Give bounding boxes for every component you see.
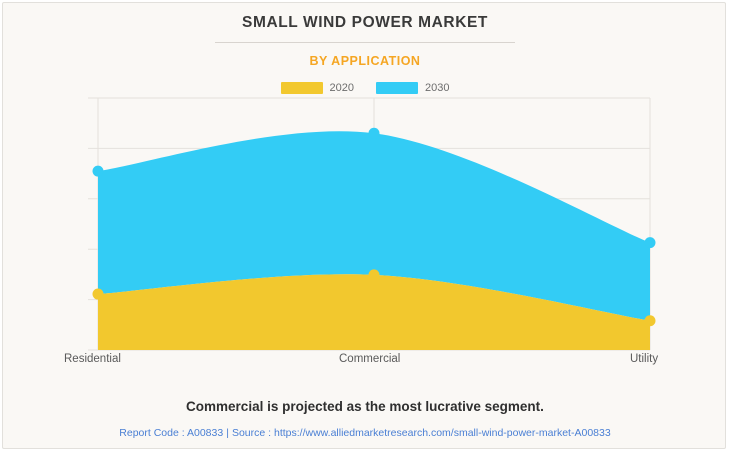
data-point-2020-Commercial[interactable] (369, 269, 380, 280)
data-point-2020-Utility[interactable] (645, 315, 656, 326)
x-axis-tick-commercial: Commercial (339, 353, 400, 365)
source-label[interactable]: Source : https://www.alliedmarketresearc… (232, 427, 611, 439)
area-chart-svg (3, 3, 727, 450)
report-code-label: Report Code : A00833 (119, 427, 223, 439)
plot-area (3, 3, 727, 450)
chart-card: SMALL WIND POWER MARKET BY APPLICATION 2… (2, 2, 726, 449)
data-point-2030-Utility[interactable] (645, 237, 656, 248)
data-point-2030-Residential[interactable] (93, 166, 104, 177)
x-axis-tick-residential: Residential (64, 353, 121, 365)
chart-caption: Commercial is projected as the most lucr… (3, 399, 727, 414)
data-point-2020-Residential[interactable] (93, 289, 104, 300)
x-axis-tick-utility: Utility (630, 353, 658, 365)
source-line: Report Code : A00833|Source : https://ww… (3, 427, 727, 439)
series-areas (98, 131, 650, 350)
source-separator: | (223, 427, 232, 439)
x-axis-labels: Residential Commercial Utility (3, 353, 727, 371)
data-point-2030-Commercial[interactable] (369, 128, 380, 139)
